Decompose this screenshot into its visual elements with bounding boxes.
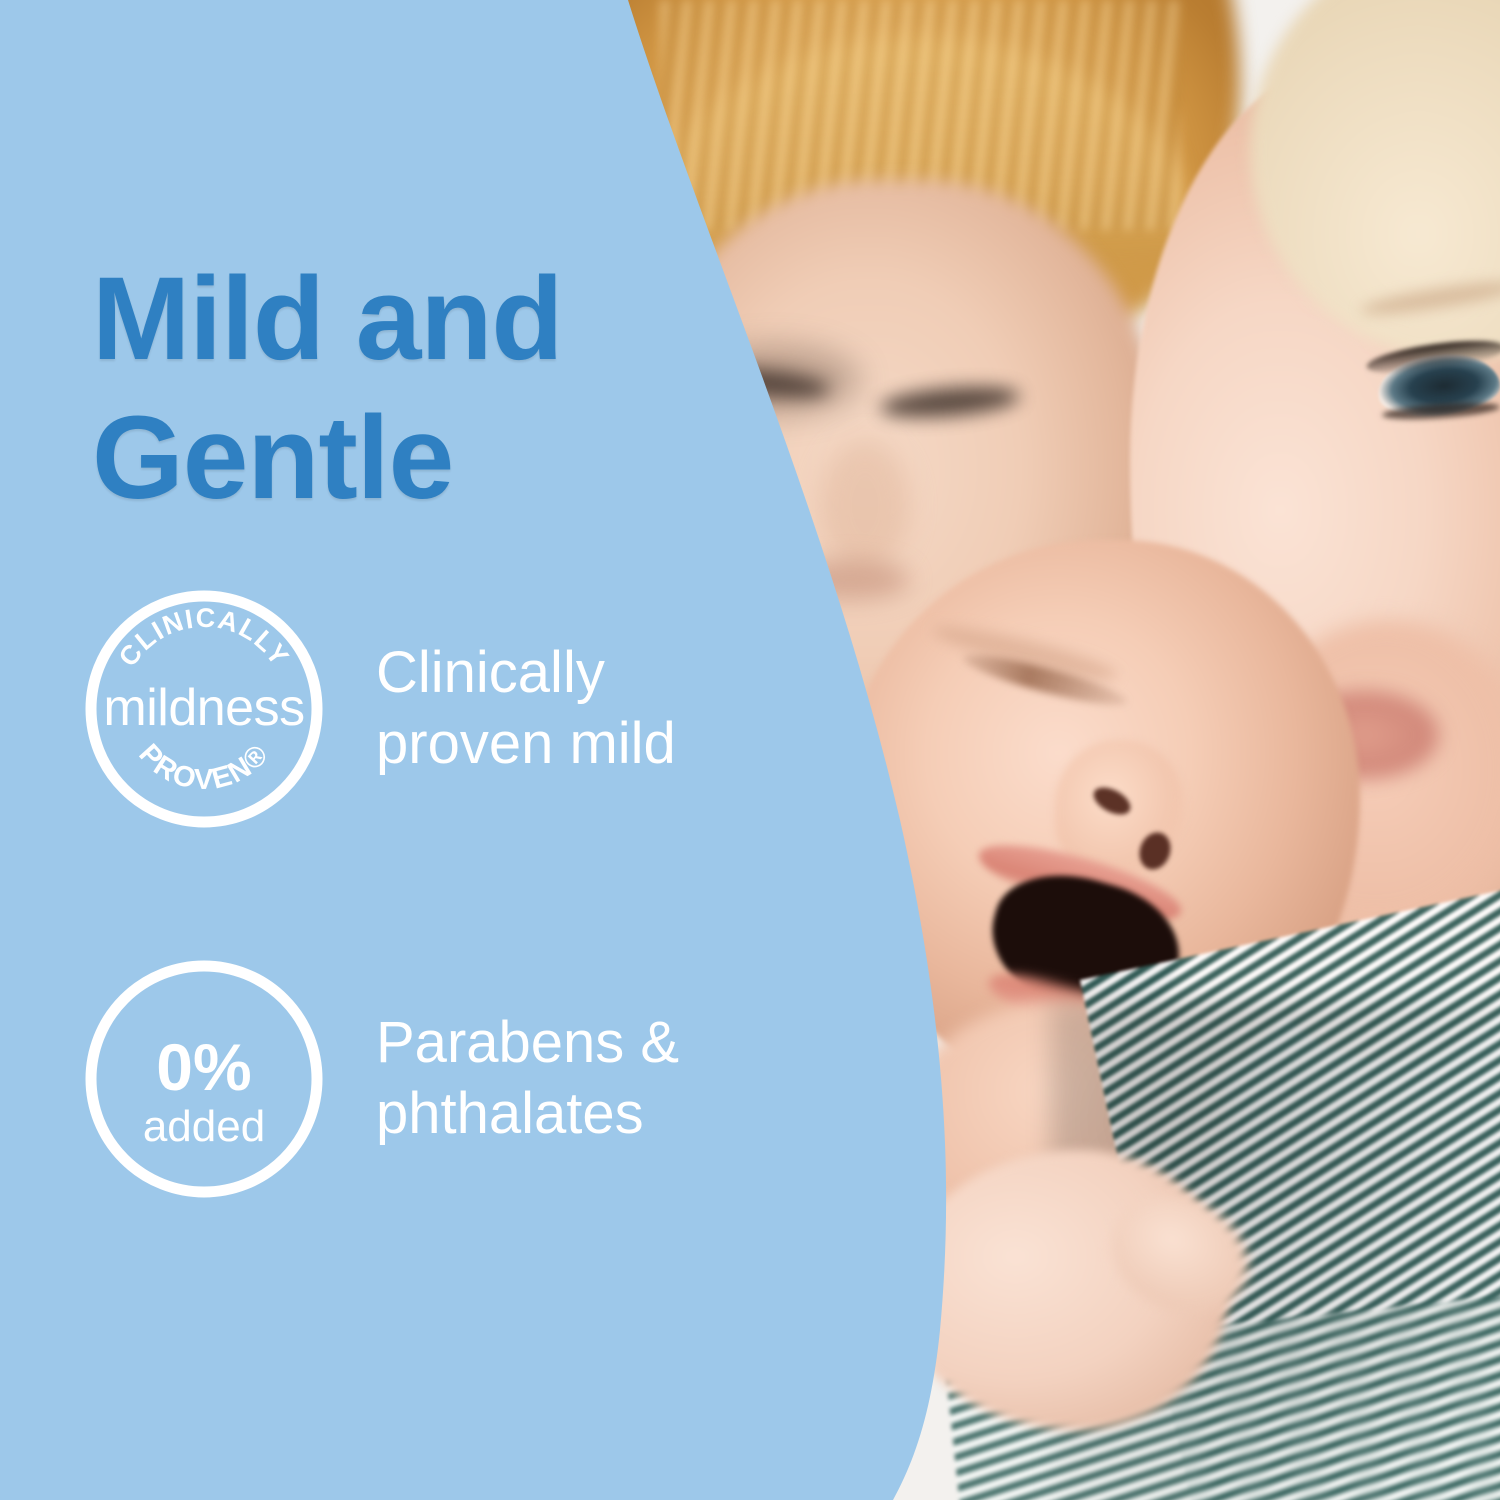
mildness-seal-badge: CLINICALLY PROVEN® mildness	[80, 585, 328, 833]
headline-line-2: Gentle	[92, 392, 453, 524]
panel-content: Mild andGentle CLINICALLY PROVEN®	[0, 0, 1500, 1500]
headline-line-1: Mild and	[92, 253, 563, 385]
feature-label: Clinically proven mild	[376, 638, 676, 780]
feature-label: Parabens & phthalates	[376, 1008, 679, 1150]
product-feature-banner: Mild andGentle CLINICALLY PROVEN®	[0, 0, 1500, 1500]
badge-added-label: added	[80, 1102, 328, 1152]
svg-text:PROVEN®: PROVEN®	[132, 738, 275, 796]
feature-no-parabens-phthalates: 0% added Parabens & phthalates	[80, 955, 679, 1203]
page-title: Mild andGentle	[92, 250, 652, 528]
badge-center-label: mildness	[80, 678, 328, 738]
zero-added-seal-badge: 0% added	[80, 955, 328, 1203]
feature-clinically-proven-mild: CLINICALLY PROVEN® mildness Clinically p…	[80, 585, 676, 833]
badge-zero-percent-label: 0%	[80, 1029, 328, 1105]
